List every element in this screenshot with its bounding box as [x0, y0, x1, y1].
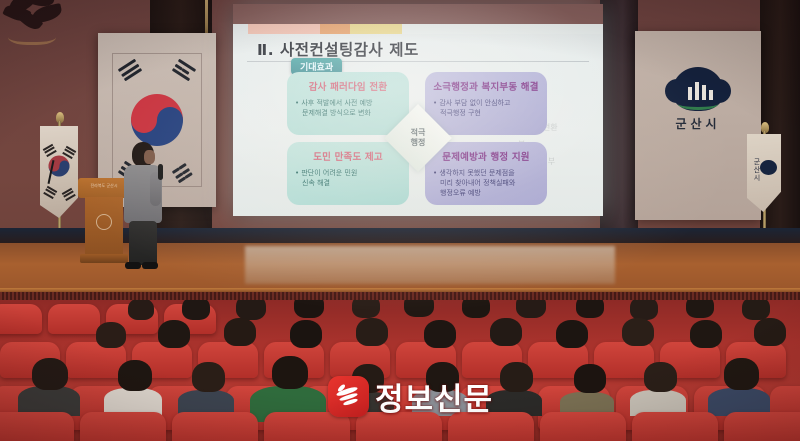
- image-vignette: [0, 0, 800, 441]
- screenshot-root: 군산시 군산시 Ⅱ. 사전컨설팅감사 제도: [0, 0, 800, 441]
